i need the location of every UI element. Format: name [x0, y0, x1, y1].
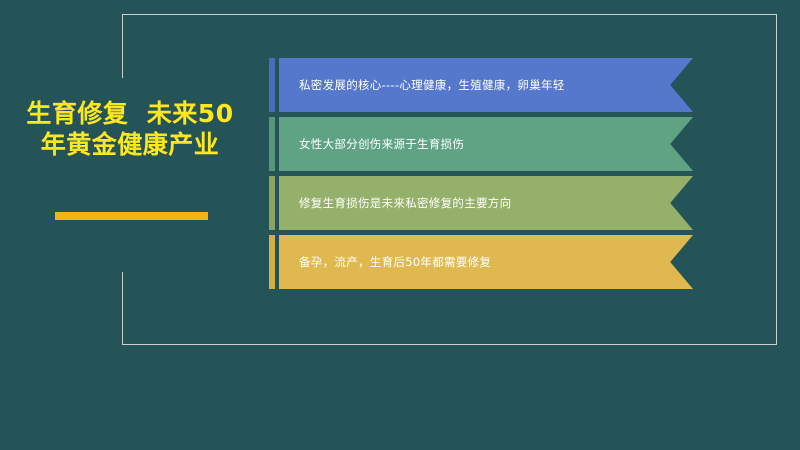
frame-border-right [776, 14, 777, 345]
banner-list: 私密发展的核心----心理健康，生殖健康，卵巢年轻 女性大部分创伤来源于生育损伤… [269, 58, 693, 294]
banner-label-3: 修复生育损伤是未来私密修复的主要方向 [279, 196, 551, 211]
frame-border-bottom [122, 344, 776, 345]
frame-border-left-lower [122, 272, 123, 345]
page-title: 生育修复 未来50年黄金健康产业 [18, 98, 242, 160]
title-underline-rule [55, 212, 208, 220]
banner-item-4[interactable]: 备孕，流产，生育后50年都需要修复 [269, 235, 693, 289]
banner-accent-bar-1 [269, 58, 275, 112]
banner-label-4: 备孕，流产，生育后50年都需要修复 [279, 255, 531, 270]
banner-item-3[interactable]: 修复生育损伤是未来私密修复的主要方向 [269, 176, 693, 230]
slide-canvas: 生育修复 未来50年黄金健康产业 私密发展的核心----心理健康，生殖健康，卵巢… [0, 0, 800, 450]
banner-label-2: 女性大部分创伤来源于生育损伤 [279, 137, 504, 152]
banner-body-2[interactable]: 女性大部分创伤来源于生育损伤 [279, 117, 693, 171]
banner-label-1: 私密发展的核心----心理健康，生殖健康，卵巢年轻 [279, 78, 605, 93]
banner-accent-bar-2 [269, 117, 275, 171]
title-block: 生育修复 未来50年黄金健康产业 [18, 98, 242, 160]
banner-body-4[interactable]: 备孕，流产，生育后50年都需要修复 [279, 235, 693, 289]
banner-item-1[interactable]: 私密发展的核心----心理健康，生殖健康，卵巢年轻 [269, 58, 693, 112]
frame-border-top [122, 14, 776, 15]
frame-border-left-upper [122, 14, 123, 78]
banner-accent-bar-3 [269, 176, 275, 230]
banner-body-3[interactable]: 修复生育损伤是未来私密修复的主要方向 [279, 176, 693, 230]
banner-accent-bar-4 [269, 235, 275, 289]
banner-body-1[interactable]: 私密发展的核心----心理健康，生殖健康，卵巢年轻 [279, 58, 693, 112]
banner-item-2[interactable]: 女性大部分创伤来源于生育损伤 [269, 117, 693, 171]
